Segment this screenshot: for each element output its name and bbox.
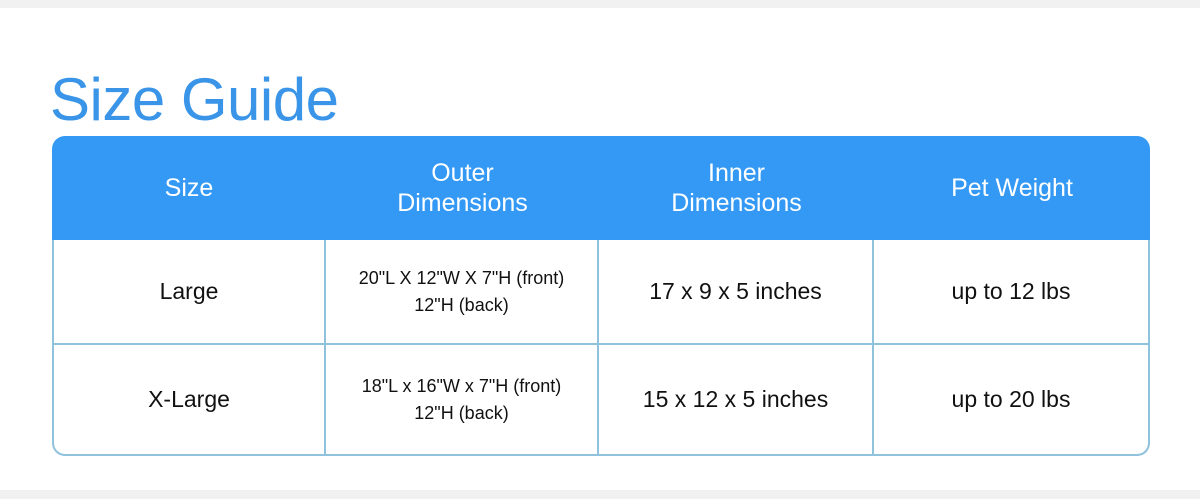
cell-pet-weight-value: up to 12 lbs — [952, 278, 1071, 304]
column-header-pet-weight: Pet Weight — [874, 136, 1150, 240]
cell-outer-dimensions-value: 20"L X 12"W X 7"H (front) 12"H (back) — [334, 265, 589, 317]
cell-size: X-Large — [52, 345, 326, 456]
cell-outer-dimensions: 18"L x 16"W x 7"H (front) 12"H (back) — [326, 345, 599, 456]
cell-pet-weight: up to 12 lbs — [874, 240, 1150, 345]
cell-outer-line1: 18"L x 16"W x 7"H (front) — [362, 376, 562, 396]
column-header-inner-line1: Inner — [708, 159, 765, 187]
column-header-size-line1: Size — [165, 174, 214, 202]
cell-size: Large — [52, 240, 326, 345]
size-guide-card: Size Guide Size Outer Dimensions Inner D… — [0, 8, 1200, 490]
cell-inner-dimensions-value: 17 x 9 x 5 inches — [649, 278, 822, 304]
column-header-outer-line2: Dimensions — [332, 188, 593, 219]
column-header-weight-line1: Pet Weight — [951, 174, 1073, 202]
cell-pet-weight: up to 20 lbs — [874, 345, 1150, 456]
cell-outer-line2: 12"H (back) — [334, 400, 589, 426]
column-header-inner-line2: Dimensions — [605, 188, 868, 219]
cell-outer-line2: 12"H (back) — [334, 292, 589, 318]
page-title: Size Guide — [50, 70, 339, 130]
cell-size-value: Large — [160, 278, 219, 304]
size-guide-table: Size Outer Dimensions Inner Dimensions P… — [52, 136, 1150, 456]
cell-outer-dimensions: 20"L X 12"W X 7"H (front) 12"H (back) — [326, 240, 599, 345]
cell-inner-dimensions: 17 x 9 x 5 inches — [599, 240, 874, 345]
table-body: Large 20"L X 12"W X 7"H (front) 12"H (ba… — [52, 240, 1150, 456]
table-header-row: Size Outer Dimensions Inner Dimensions P… — [52, 136, 1150, 240]
cell-size-value: X-Large — [148, 386, 230, 412]
table-header: Size Outer Dimensions Inner Dimensions P… — [52, 136, 1150, 240]
column-header-outer-dimensions: Outer Dimensions — [326, 136, 599, 240]
table-row: X-Large 18"L x 16"W x 7"H (front) 12"H (… — [52, 345, 1150, 456]
cell-inner-dimensions-value: 15 x 12 x 5 inches — [643, 386, 828, 412]
cell-inner-dimensions: 15 x 12 x 5 inches — [599, 345, 874, 456]
cell-outer-dimensions-value: 18"L x 16"W x 7"H (front) 12"H (back) — [334, 373, 589, 425]
column-header-inner-dimensions: Inner Dimensions — [599, 136, 874, 240]
column-header-size: Size — [52, 136, 326, 240]
cell-pet-weight-value: up to 20 lbs — [952, 386, 1071, 412]
cell-outer-line1: 20"L X 12"W X 7"H (front) — [359, 268, 565, 288]
table-row: Large 20"L X 12"W X 7"H (front) 12"H (ba… — [52, 240, 1150, 345]
column-header-outer-line1: Outer — [431, 159, 494, 187]
